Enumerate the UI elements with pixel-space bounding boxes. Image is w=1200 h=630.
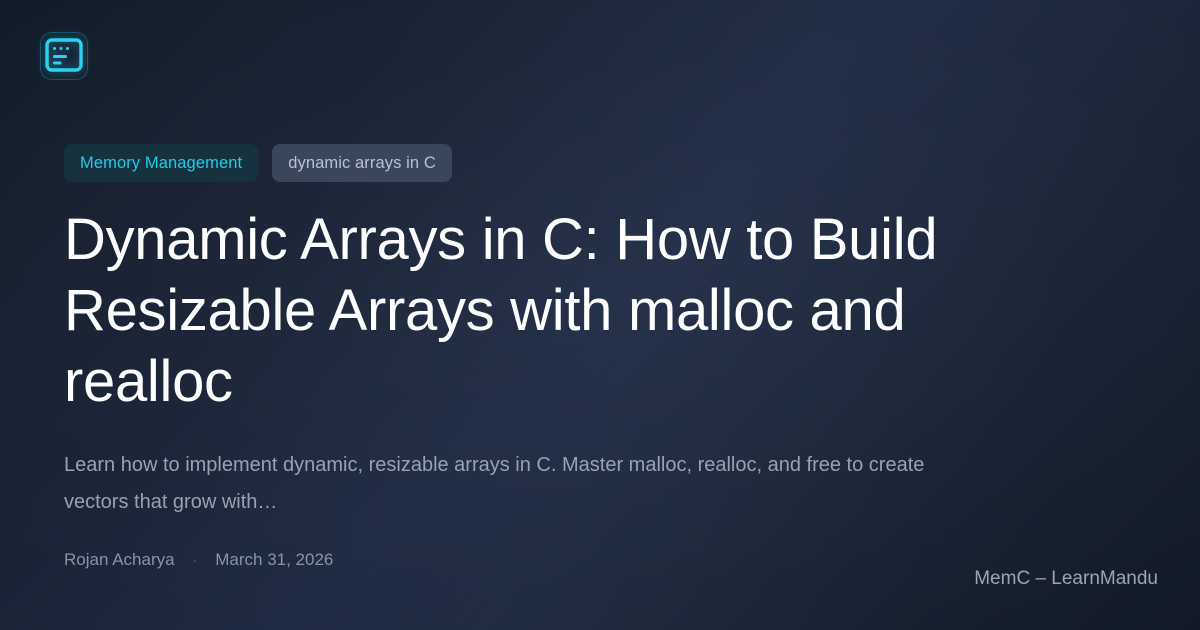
og-card: Memory Management dynamic arrays in C Dy… [0,0,1200,630]
article-description: Learn how to implement dynamic, resizabl… [64,447,944,521]
article-meta: Rojan Acharya · March 31, 2026 [64,551,1074,568]
badge-list: Memory Management dynamic arrays in C [64,144,1074,182]
publish-date: March 31, 2026 [215,551,333,568]
brand-logo[interactable] [40,32,88,80]
meta-separator: · [193,553,198,567]
content-column: Memory Management dynamic arrays in C Dy… [64,144,1074,568]
terminal-window-icon [45,38,83,74]
article-title: Dynamic Arrays in C: How to Build Resiza… [64,204,1064,417]
badge-category[interactable]: Memory Management [64,144,258,182]
badge-tag[interactable]: dynamic arrays in C [272,144,452,182]
site-footer-label: MemC – LearnMandu [974,569,1158,588]
author-name: Rojan Acharya [64,551,175,568]
